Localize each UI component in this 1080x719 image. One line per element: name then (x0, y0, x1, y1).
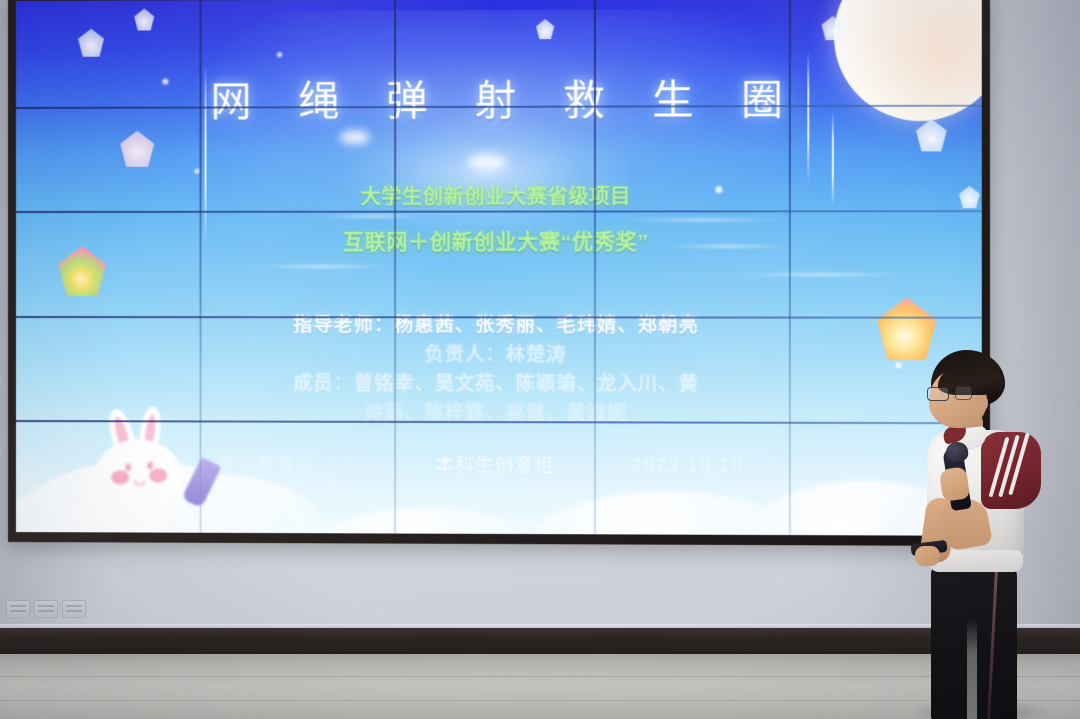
glasses-icon (927, 387, 949, 401)
presenter-leg-gap (967, 618, 977, 719)
presenter-sleeve (981, 432, 1041, 509)
wall-outlet (6, 600, 30, 618)
credit-line-members-2: 诗茹、陈梓霖、高健、黄淑妮 (16, 398, 982, 429)
slide-text-layer: 网 绳 弹 射 救 生 圈 大学生创新创业大赛省级项目 互联网＋创新创业大赛“优… (16, 0, 982, 536)
presenter-ear (975, 394, 988, 412)
presenter-hand-holding-mic (939, 466, 970, 501)
slide-footer: 青创赛赛道 本科生创意组 2023.10.10 (16, 463, 982, 466)
glasses-lens-right (955, 386, 972, 400)
video-wall-bezel: 网 绳 弹 射 救 生 圈 大学生创新创业大赛省级项目 互联网＋创新创业大赛“优… (8, 0, 990, 546)
footer-group: 本科生创意组 (436, 451, 555, 478)
wall-outlet (62, 600, 86, 618)
footer-date: 2023.10.10 (632, 454, 744, 476)
credit-line-advisors: 指导老师：杨惠茜、张秀丽、毛玮婧、郑朝亮 (16, 311, 982, 341)
slide-screen[interactable]: 网 绳 弹 射 救 生 圈 大学生创新创业大赛省级项目 互联网＋创新创业大赛“优… (16, 0, 982, 536)
video-wall[interactable]: 网 绳 弹 射 救 生 圈 大学生创新创业大赛省级项目 互联网＋创新创业大赛“优… (8, 0, 990, 546)
slide-subtitle-2: 互联网＋创新创业大赛“优秀奖” (16, 225, 982, 256)
slide-credits: 指导老师：杨惠茜、张秀丽、毛玮婧、郑朝亮 负责人：林楚涛 成员：曾铭幸、昊文苑、… (16, 311, 982, 429)
student-presenter (905, 350, 1080, 719)
slide-title: 网 绳 弹 射 救 生 圈 (16, 65, 982, 128)
credit-line-leader: 负责人：林楚涛 (16, 340, 982, 370)
wall-outlet (34, 600, 58, 618)
credit-line-members-1: 成员：曾铭幸、昊文苑、陈颖瑜、龙入川、黄 (16, 369, 982, 400)
presenter-hand-holding-clicker (915, 546, 940, 566)
slide-subtitle-1: 大学生创新创业大赛省级项目 (16, 180, 982, 210)
footer-track: 青创赛赛道 (217, 451, 315, 477)
presentation-room-photo: 网 绳 弹 射 救 生 圈 大学生创新创业大赛省级项目 互联网＋创新创业大赛“优… (0, 0, 1080, 719)
